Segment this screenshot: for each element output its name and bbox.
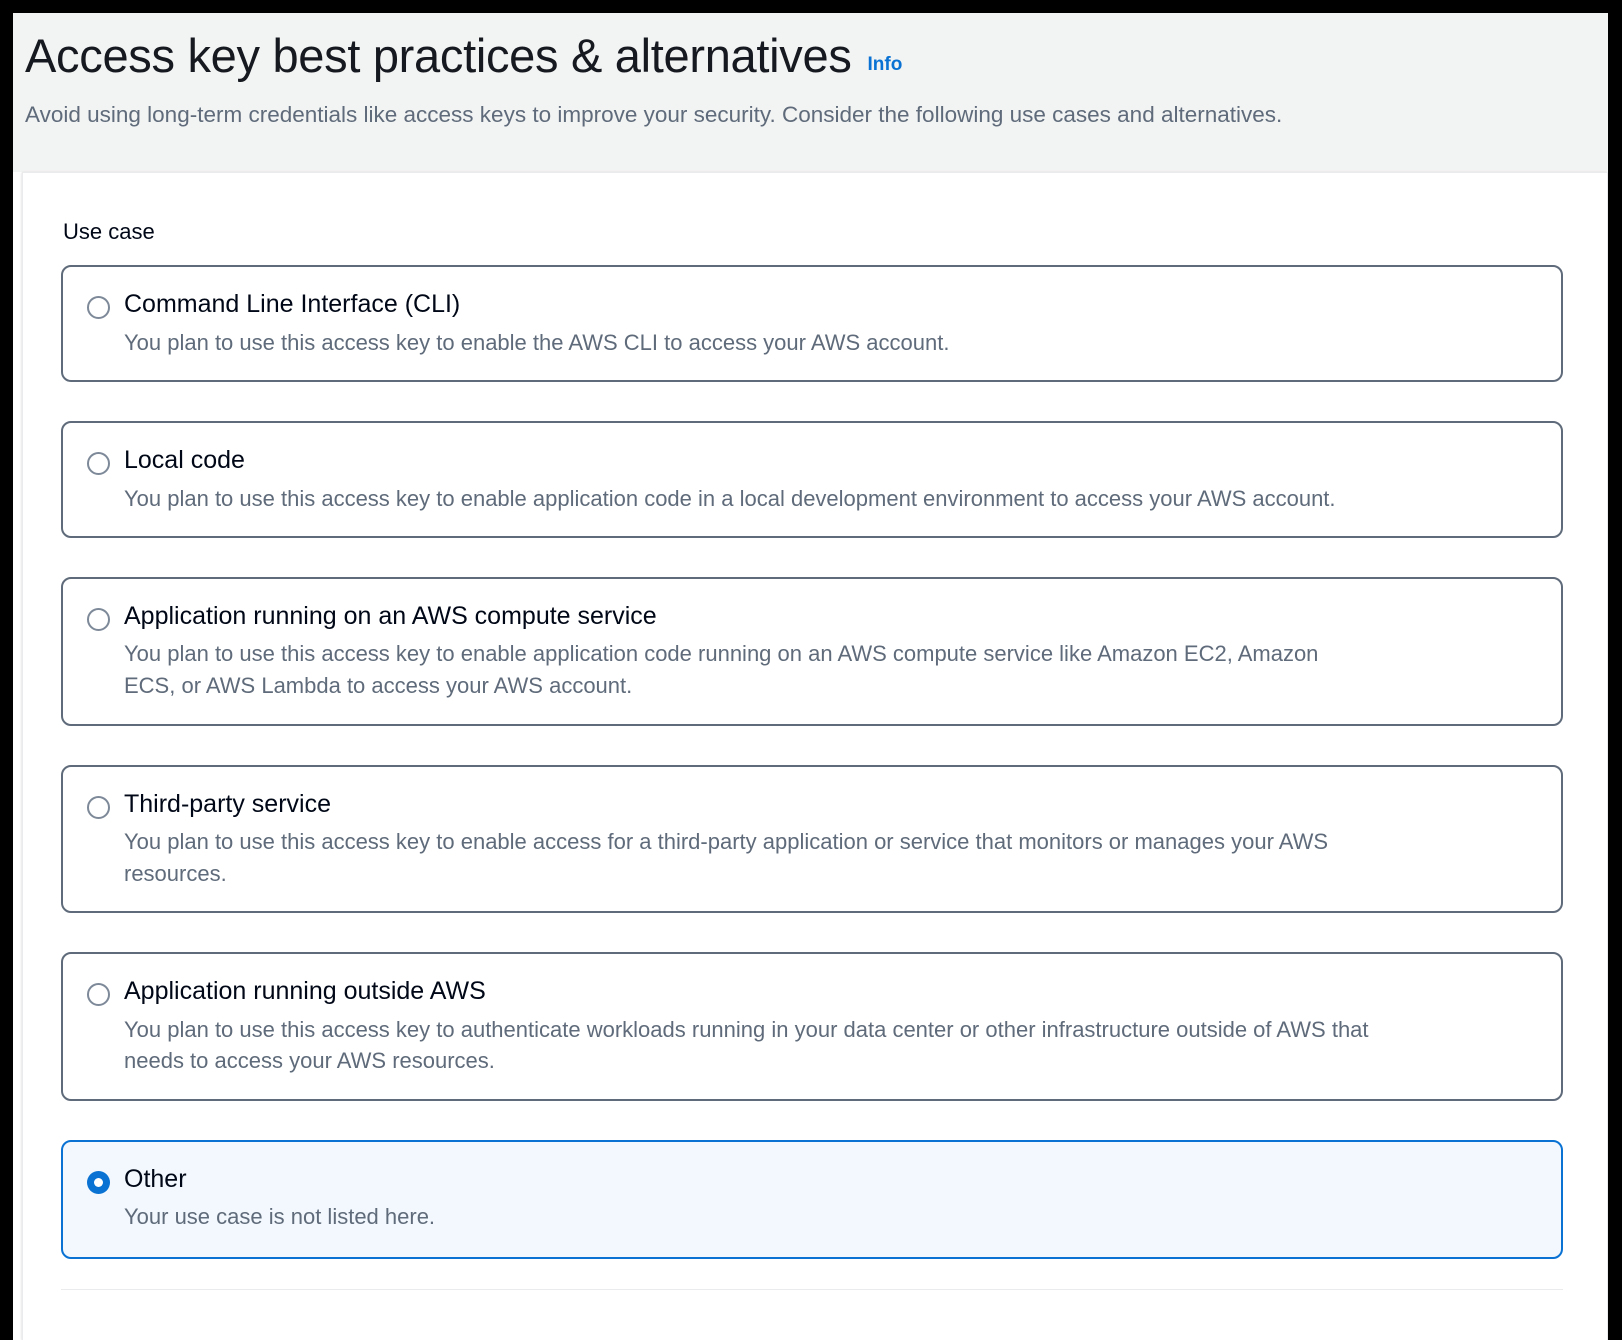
radio-option-other[interactable]: Other Your use case is not listed here. bbox=[61, 1140, 1563, 1259]
radio-option-local-code[interactable]: Local code You plan to use this access k… bbox=[61, 421, 1563, 538]
radio-option-description: You plan to use this access key to enabl… bbox=[124, 483, 1372, 515]
use-case-radio-group[interactable]: Command Line Interface (CLI) You plan to… bbox=[61, 265, 1563, 1259]
radio-button-icon[interactable] bbox=[87, 796, 110, 819]
radio-option-text: Other Your use case is not listed here. bbox=[124, 1164, 1537, 1233]
radio-option-text: Command Line Interface (CLI) You plan to… bbox=[124, 289, 1537, 358]
page-title: Access key best practices & alternatives bbox=[25, 31, 852, 82]
radio-option-text: Local code You plan to use this access k… bbox=[124, 445, 1537, 514]
radio-option-label: Other bbox=[124, 1164, 1537, 1195]
radio-button-selected-icon[interactable] bbox=[87, 1171, 110, 1194]
radio-option-label: Local code bbox=[124, 445, 1537, 476]
title-row: Access key best practices & alternatives… bbox=[25, 31, 1600, 82]
radio-option-description: You plan to use this access key to enabl… bbox=[124, 638, 1372, 701]
radio-option-label: Application running outside AWS bbox=[124, 976, 1537, 1007]
radio-option-label: Third-party service bbox=[124, 789, 1537, 820]
browser-viewport: Access key best practices & alternatives… bbox=[0, 0, 1622, 1340]
radio-button-icon[interactable] bbox=[87, 452, 110, 475]
radio-option-text: Application running on an AWS compute se… bbox=[124, 601, 1537, 702]
radio-option-label: Command Line Interface (CLI) bbox=[124, 289, 1537, 320]
radio-option-description: You plan to use this access key to enabl… bbox=[124, 826, 1372, 889]
radio-option-description: Your use case is not listed here. bbox=[124, 1201, 1372, 1233]
page-header: Access key best practices & alternatives… bbox=[13, 13, 1608, 172]
radio-button-icon[interactable] bbox=[87, 296, 110, 319]
radio-option-text: Application running outside AWS You plan… bbox=[124, 976, 1537, 1077]
radio-option-aws-compute[interactable]: Application running on an AWS compute se… bbox=[61, 577, 1563, 726]
use-case-panel: Use case Command Line Interface (CLI) Yo… bbox=[22, 172, 1608, 1340]
radio-option-cli[interactable]: Command Line Interface (CLI) You plan to… bbox=[61, 265, 1563, 382]
page-subtitle: Avoid using long-term credentials like a… bbox=[25, 100, 1600, 130]
use-case-panel-body: Use case Command Line Interface (CLI) Yo… bbox=[23, 219, 1607, 1300]
info-link[interactable]: Info bbox=[868, 54, 903, 76]
radio-option-label: Application running on an AWS compute se… bbox=[124, 601, 1537, 632]
radio-option-description: You plan to use this access key to enabl… bbox=[124, 327, 1372, 359]
page-header-inner: Access key best practices & alternatives… bbox=[13, 31, 1608, 130]
radio-button-icon[interactable] bbox=[87, 983, 110, 1006]
panel-section-divider bbox=[61, 1289, 1563, 1300]
radio-option-description: You plan to use this access key to authe… bbox=[124, 1014, 1372, 1077]
use-case-field-label: Use case bbox=[63, 219, 1563, 245]
radio-button-icon[interactable] bbox=[87, 608, 110, 631]
radio-option-text: Third-party service You plan to use this… bbox=[124, 789, 1537, 890]
radio-option-outside-aws[interactable]: Application running outside AWS You plan… bbox=[61, 952, 1563, 1101]
radio-option-third-party[interactable]: Third-party service You plan to use this… bbox=[61, 765, 1563, 914]
